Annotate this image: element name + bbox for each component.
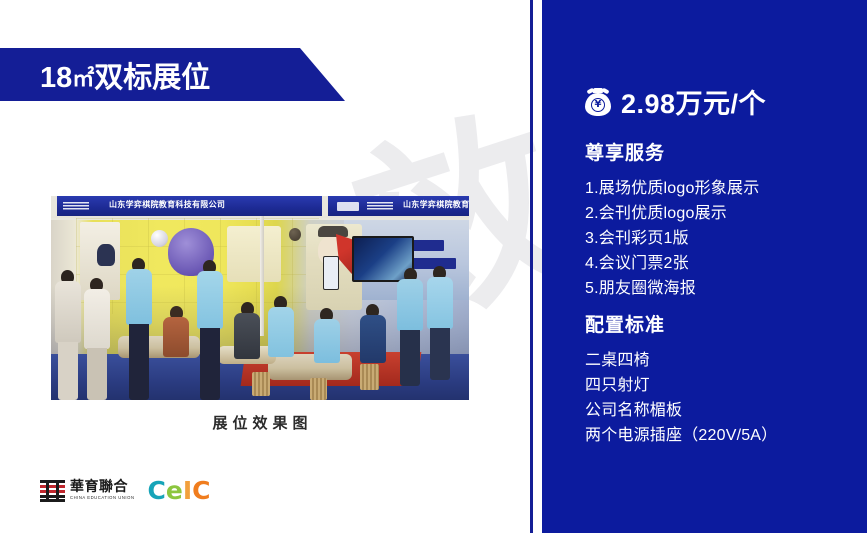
person-torso bbox=[234, 313, 260, 359]
money-bag-icon: ¥ bbox=[585, 88, 611, 116]
config-item: 四只射灯 bbox=[585, 373, 860, 398]
service-item: 1.展场优质logo形象展示 bbox=[585, 176, 860, 201]
price-value: 2.98万元/个 bbox=[621, 82, 766, 121]
fascia-divider-mid bbox=[322, 196, 328, 216]
ceic-logo: CeIC bbox=[148, 478, 211, 503]
service-item: 3.会刊彩页1版 bbox=[585, 226, 860, 251]
person-legs bbox=[400, 330, 420, 386]
mark-bar bbox=[40, 490, 65, 493]
person-torso bbox=[197, 271, 223, 329]
booth-fascia-strip: 山东学弈棋院教育科技有限公司 山东学弈棋院教育科技有限公司 bbox=[51, 196, 469, 218]
title-banner: 18㎡双标展位 bbox=[0, 48, 345, 101]
title-size-number: 18 bbox=[40, 62, 72, 94]
vertical-divider bbox=[530, 0, 533, 533]
person-torso bbox=[84, 289, 110, 349]
services-section: 尊享服务 1.展场优质logo形象展示 2.会刊优质logo展示 3.会刊彩页1… bbox=[585, 138, 860, 301]
person-legs bbox=[200, 328, 220, 400]
config-item: 二桌四椅 bbox=[585, 348, 860, 373]
person-legs bbox=[87, 348, 107, 400]
fascia-ceic-logo-icon bbox=[337, 202, 359, 211]
mark-bar bbox=[40, 495, 65, 498]
person-legs bbox=[430, 328, 450, 380]
hua-yu-mark-icon bbox=[40, 480, 65, 502]
service-item: 2.会刊优质logo展示 bbox=[585, 201, 860, 226]
booth-photo: 山东学弈棋院教育科技有限公司 山东学弈棋院教育科技有限公司 bbox=[51, 196, 469, 400]
person-torso bbox=[163, 317, 189, 357]
config-item: 两个电源插座（220V/5A） bbox=[585, 423, 860, 448]
booth-poster-cartoon bbox=[227, 226, 281, 282]
hua-yu-wordmark: 華育聯合 CHINA EDUCATION UNION bbox=[70, 480, 135, 500]
booth-support-pole bbox=[260, 216, 264, 336]
logo-text-en: CHINA EDUCATION UNION bbox=[70, 496, 135, 500]
fascia-hyl-logo-icon-2 bbox=[367, 202, 393, 210]
person-torso bbox=[397, 279, 423, 331]
yen-symbol: ¥ bbox=[591, 98, 605, 112]
person-torso bbox=[55, 281, 81, 343]
service-item: 4.会议门票2张 bbox=[585, 251, 860, 276]
fascia-hyl-logo-icon bbox=[63, 202, 89, 210]
person-legs bbox=[129, 324, 149, 400]
fascia-divider-left bbox=[51, 196, 57, 216]
services-heading: 尊享服务 bbox=[585, 138, 860, 165]
title-unit: ㎡ bbox=[72, 66, 94, 91]
config-item: 公司名称楣板 bbox=[585, 398, 860, 423]
person-torso bbox=[360, 315, 386, 363]
person-torso bbox=[268, 307, 294, 357]
fascia-sign-left: 山东学弈棋院教育科技有限公司 bbox=[109, 199, 225, 210]
ceic-letter-e: e bbox=[166, 478, 183, 503]
booth-stool-2 bbox=[360, 364, 379, 390]
page-title: 18㎡双标展位 bbox=[40, 54, 210, 96]
price-row: ¥ 2.98万元/个 bbox=[585, 82, 766, 121]
person-torso bbox=[126, 269, 152, 325]
photo-caption: 展位效果图 bbox=[51, 412, 469, 433]
person-torso bbox=[314, 319, 340, 363]
fascia-sign-right: 山东学弈棋院教育科技有限公司 bbox=[403, 199, 469, 210]
config-section: 配置标准 二桌四椅 四只射灯 公司名称楣板 两个电源插座（220V/5A） bbox=[585, 310, 860, 448]
person-legs bbox=[58, 342, 78, 400]
booth-photo-image: 山东学弈棋院教育科技有限公司 山东学弈棋院教育科技有限公司 bbox=[51, 196, 469, 400]
poster-hat bbox=[318, 226, 348, 237]
mark-vert bbox=[56, 480, 59, 502]
ceic-letter-i: I bbox=[183, 478, 192, 503]
ceic-letter-c2: C bbox=[192, 478, 210, 503]
person-torso bbox=[427, 277, 453, 329]
right-info-panel: ¥ 2.98万元/个 尊享服务 1.展场优质logo形象展示 2.会刊优质log… bbox=[542, 0, 867, 533]
mark-bar bbox=[40, 485, 65, 488]
booth-tablet-screen bbox=[323, 256, 339, 290]
bag-neck bbox=[593, 88, 604, 93]
service-item: 5.朋友圈微海报 bbox=[585, 276, 860, 301]
booth-stool-3 bbox=[310, 378, 327, 400]
mark-vert bbox=[46, 480, 49, 502]
mark-bar bbox=[40, 499, 65, 502]
booth-stool-1 bbox=[252, 372, 270, 396]
hua-yu-lian-he-logo: 華育聯合 CHINA EDUCATION UNION bbox=[40, 480, 135, 502]
rollup-portrait bbox=[97, 244, 115, 266]
logo-text-cn: 華育聯合 bbox=[70, 480, 135, 494]
footer-logos: 華育聯合 CHINA EDUCATION UNION CeIC bbox=[40, 478, 211, 503]
mark-bar bbox=[40, 480, 65, 483]
config-heading: 配置标准 bbox=[585, 310, 860, 337]
title-label: 双标展位 bbox=[94, 62, 210, 94]
ceic-letter-c1: C bbox=[148, 478, 166, 503]
slide-canvas: 效 18㎡双标展位 山东学弈棋院教育科技有限公司 山东学弈棋院教育科技有限公司 bbox=[0, 0, 867, 533]
